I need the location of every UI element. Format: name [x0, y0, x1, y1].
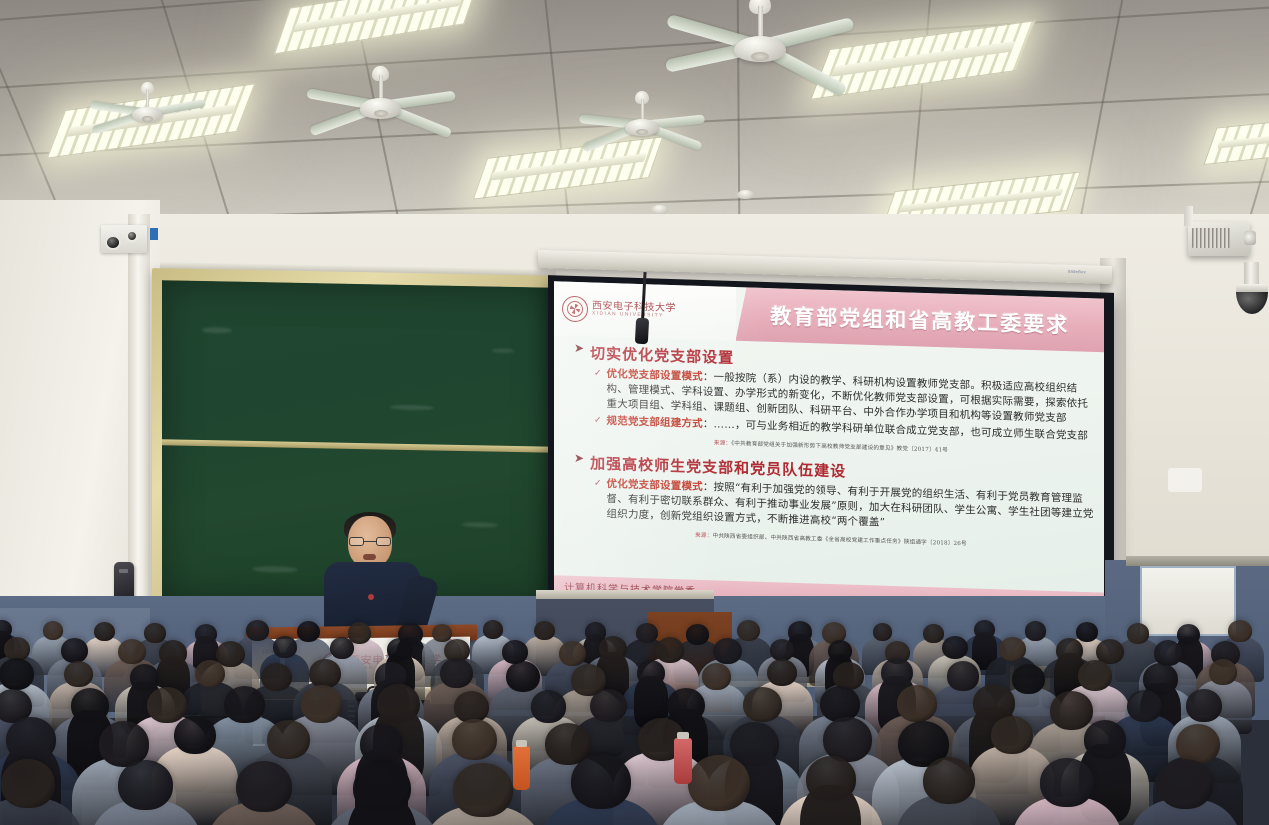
audience-head — [636, 623, 658, 643]
audience-head — [942, 636, 968, 659]
audience-head — [454, 691, 489, 723]
camera-lens-icon — [105, 235, 121, 250]
fan-hub — [360, 98, 401, 118]
audience-head — [267, 720, 310, 759]
audience-head — [897, 685, 938, 722]
camera-sensor-icon — [126, 230, 138, 242]
audience-head — [1186, 689, 1222, 722]
audience-head — [297, 621, 320, 642]
audience-head — [999, 637, 1025, 661]
audience-head — [1127, 690, 1162, 722]
wall-notice-right — [1168, 468, 1202, 492]
fan-hub — [132, 107, 163, 123]
citation-text: 《中共教育部党组关于加强新形势下高校教师党支部建设的意见》教党〔2017〕41号 — [731, 441, 948, 454]
arrow-bullet-icon: ➤ — [574, 342, 584, 356]
audience-head — [1158, 759, 1213, 809]
smoke-detector-icon — [651, 205, 668, 214]
audience-head — [1127, 623, 1150, 644]
audience-head — [236, 761, 292, 812]
audience-head — [1025, 621, 1046, 641]
check-bullet-icon: ✓ — [594, 477, 602, 491]
audience-head — [713, 638, 742, 664]
projector-vent — [1192, 228, 1230, 248]
speaker-mouth — [363, 554, 376, 560]
audience-head — [991, 716, 1033, 754]
audience-head — [1076, 622, 1098, 642]
eyeglasses-icon — [349, 537, 391, 546]
audience-head — [1050, 691, 1093, 730]
audience-head — [309, 659, 341, 688]
audience-head — [737, 620, 760, 641]
dome-security-camera — [1232, 262, 1269, 318]
audience-head — [1, 759, 55, 808]
audience-head — [531, 690, 567, 723]
fan-hub — [625, 119, 659, 136]
audience-head — [1228, 620, 1252, 642]
camera-pole — [1244, 262, 1259, 286]
audience-head — [1154, 640, 1182, 666]
audience-head — [43, 621, 63, 640]
fan-hub — [734, 36, 786, 62]
audience-head — [246, 620, 269, 641]
audience-head — [195, 660, 225, 687]
wall-camera-unit — [101, 225, 147, 253]
audience-head — [1209, 659, 1238, 685]
bullet-lead: 优化党支部设置模式 — [607, 478, 703, 493]
audience-head — [330, 637, 354, 659]
audience-head — [273, 636, 297, 658]
water-bottle — [513, 746, 530, 790]
wall-rail-right — [1126, 556, 1269, 566]
projector-lens-icon — [1244, 231, 1256, 245]
ceiling-projector — [1188, 222, 1250, 256]
audience-head — [571, 754, 632, 809]
audience-head — [483, 620, 503, 639]
audience-head — [820, 686, 860, 722]
audience-head — [440, 658, 473, 688]
audience-head — [590, 689, 627, 722]
audience-head — [147, 687, 187, 723]
slide-body: ➤ 切实优化党支部设置 ✓ 优化党支部设置模式：一般按院（系）内设的教学、科研机… — [554, 335, 1104, 592]
bullet-lead: 规范党支部组建方式 — [607, 415, 703, 430]
logo-name-en: XIDIAN UNIVERSITY — [592, 312, 676, 320]
audience-head — [144, 623, 165, 643]
audience-head — [506, 661, 540, 692]
audience-head — [432, 624, 452, 642]
screen-case-badge: SlideBox — [1068, 269, 1086, 275]
arrow-bullet-icon: ➤ — [574, 452, 584, 466]
projector-mount-arm — [1184, 206, 1193, 226]
audience-head — [64, 661, 93, 687]
audience-head — [94, 622, 115, 641]
audience-head — [559, 641, 586, 666]
audience-head — [0, 658, 34, 690]
citation-text: 中共陕西省委组织部、中共陕西省高教工委《全省高校党建工作重点任务》陕组通字〔20… — [713, 533, 967, 547]
audience-head — [1078, 660, 1112, 691]
audience-head — [1012, 664, 1045, 694]
water-bottle — [674, 738, 692, 784]
citation-label: 来源： — [714, 441, 731, 448]
audience-head — [743, 687, 782, 722]
wall-blue-marker — [150, 228, 158, 240]
smoke-detector-icon — [737, 190, 754, 199]
audience-head — [301, 685, 343, 723]
audience-head — [1176, 724, 1220, 764]
audience-head — [224, 686, 265, 723]
audience-head — [61, 638, 88, 663]
lecture-hall-photo: SlideBox 西安电子科技大学 XIDIAN UNIVERSITY 教育部党… — [0, 0, 1269, 825]
audience-head — [873, 623, 893, 641]
audience-head — [702, 663, 731, 690]
audience — [0, 618, 1269, 825]
audience-head — [686, 624, 709, 645]
section-heading-text: 切实优化党支部设置 — [590, 342, 734, 368]
audience-head — [767, 659, 797, 686]
projection-screen-bezel: 西安电子科技大学 XIDIAN UNIVERSITY 教育部党组和省高教工委要求… — [548, 275, 1114, 621]
check-bullet-icon: ✓ — [594, 366, 602, 380]
audience-head — [688, 755, 750, 811]
audience-head — [453, 763, 512, 817]
audience-head — [656, 637, 684, 663]
audience-head — [534, 621, 555, 640]
slide-title: 教育部党组和省高教工委要求 — [770, 300, 1069, 339]
audience-head — [947, 661, 979, 691]
audience-head — [174, 716, 216, 754]
university-seal-icon — [562, 295, 588, 322]
audience-head — [452, 719, 497, 760]
bullet-lead: 优化党支部设置模式 — [607, 368, 703, 383]
audience-head — [770, 639, 794, 661]
audience-head — [118, 639, 146, 664]
audience-head — [1040, 758, 1094, 807]
audience-head — [118, 760, 173, 810]
audience-head — [261, 663, 292, 691]
audience-head — [923, 624, 943, 643]
camera-dome-icon — [1236, 292, 1268, 314]
citation-label: 来源： — [695, 533, 712, 540]
check-bullet-icon: ✓ — [594, 414, 602, 428]
chalkboard-divider — [162, 439, 554, 453]
audience-head — [923, 757, 975, 804]
